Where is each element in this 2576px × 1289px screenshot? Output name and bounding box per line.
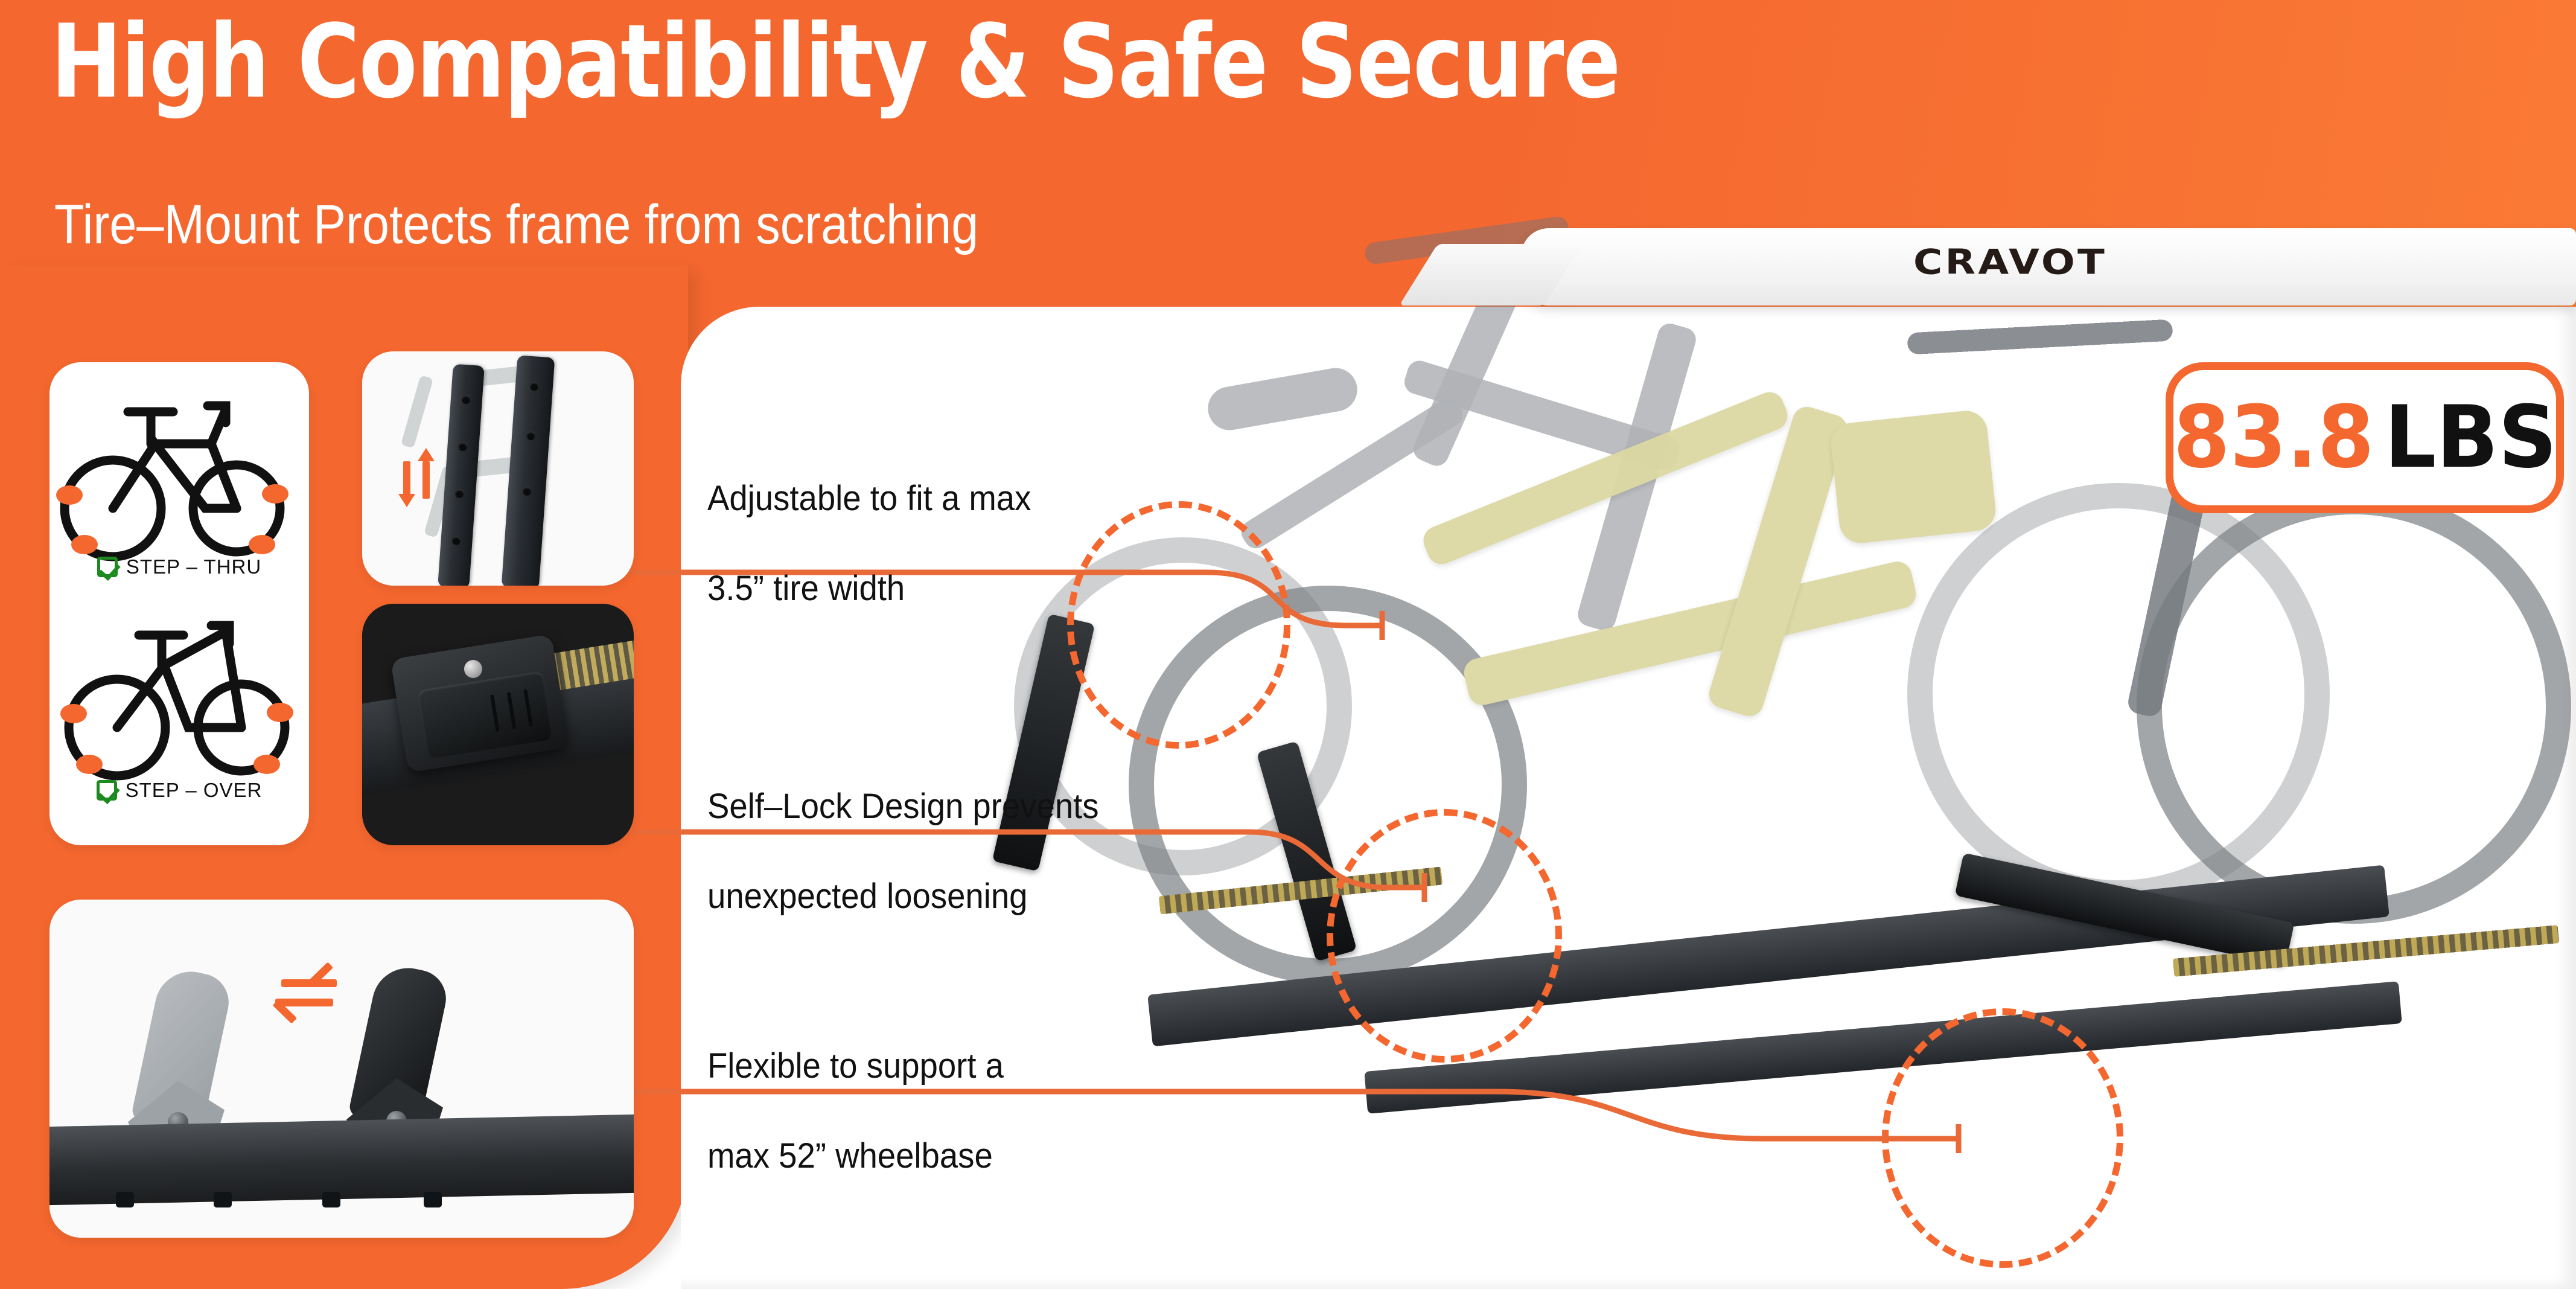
adjustable-rails-photo (362, 351, 634, 586)
callout-self-lock: Self–Lock Design prevents unexpected loo… (707, 740, 1195, 964)
weight-unit: LBS (2384, 395, 2557, 481)
brand-logo: CRAVOT (1913, 241, 2107, 282)
page-title: High Compatibility & Safe Secure (51, 4, 1620, 120)
wheelbase-highlight-circle (1882, 1008, 2123, 1268)
pivoting-wheel-cradle-photo (49, 900, 634, 1238)
self-lock-buckle-photo (362, 604, 634, 845)
step-over-bicycle-icon (49, 598, 309, 797)
weight-value: 83.8 (2173, 395, 2374, 481)
step-thru-label: STEP – THRU (126, 555, 261, 578)
step-over-label-row: STEP – OVER (49, 779, 309, 802)
callout-wheelbase: Flexible to support a max 52” wheelbase (707, 999, 1150, 1223)
step-thru-label-row: STEP – THRU (49, 555, 309, 578)
self-lock-highlight-circle (1327, 809, 1562, 1063)
step-thru-bicycle-icon (49, 380, 309, 580)
bike-frame-compatibility-card: STEP – THRU STEP – OVER (49, 362, 309, 845)
step-over-label: STEP – OVER (126, 779, 263, 802)
checkbox-checked-icon (97, 557, 118, 577)
weight-capacity-badge: 83.8LBS (2166, 362, 2564, 513)
checkbox-checked-icon (97, 780, 117, 801)
callout-tire-width: Adjustable to fit a max 3.5” tire width (707, 432, 1138, 656)
infographic-canvas: High Compatibility & Safe Secure Tire–Mo… (0, 0, 2576, 1289)
swap-arrows-icon (272, 972, 350, 1044)
up-down-arrows-icon (397, 458, 439, 506)
page-subtitle: Tire–Mount Protects frame from scratchin… (54, 193, 978, 257)
